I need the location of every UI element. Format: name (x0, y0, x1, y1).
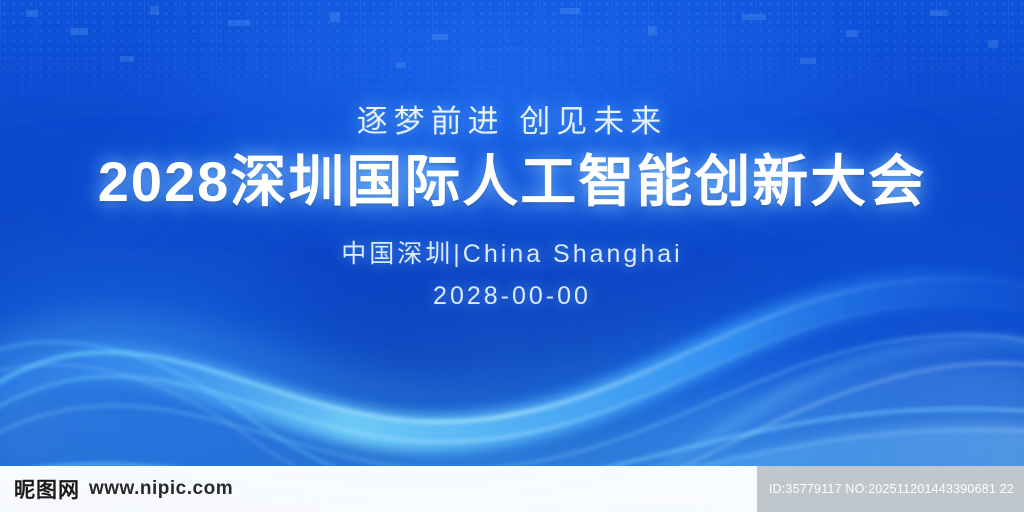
page-title: 2028深圳国际人工智能创新大会 (0, 151, 1024, 214)
deco-block (846, 30, 858, 37)
footer-bar: 昵图网 www.nipic.com ID:35779117 NO:2025112… (0, 466, 1024, 512)
tech-grid-lines-icon (0, 0, 1024, 110)
deco-block (800, 58, 816, 64)
status-badge: ID:35779117 NO:202511201443390681 22 (757, 466, 1024, 512)
brand[interactable]: 昵图网 www.nipic.com (14, 474, 233, 504)
poster-subtitle: 逐梦前进 创见未来 (0, 96, 1024, 141)
deco-block (560, 8, 580, 14)
deco-block (988, 40, 998, 48)
poster-location: 中国深圳|China Shanghai (0, 234, 1024, 270)
deco-block (330, 12, 340, 22)
deco-block (930, 10, 948, 16)
deco-block (150, 6, 159, 15)
deco-block (228, 20, 250, 26)
poster-canvas: 逐梦前进 创见未来 2028深圳国际人工智能创新大会 中国深圳|China Sh… (0, 0, 1024, 512)
deco-block (432, 34, 448, 40)
deco-block (26, 10, 38, 17)
deco-block (648, 26, 657, 35)
poster-date: 2028-00-00 (0, 282, 1024, 311)
poster-text-block: 逐梦前进 创见未来 2028深圳国际人工智能创新大会 中国深圳|China Sh… (0, 96, 1024, 311)
deco-block (396, 62, 406, 68)
deco-block (70, 28, 88, 35)
brand-url-text: www.nipic.com (89, 478, 233, 500)
deco-block (742, 14, 766, 20)
brand-logo-text: 昵图网 (14, 474, 80, 504)
deco-block (120, 56, 134, 62)
